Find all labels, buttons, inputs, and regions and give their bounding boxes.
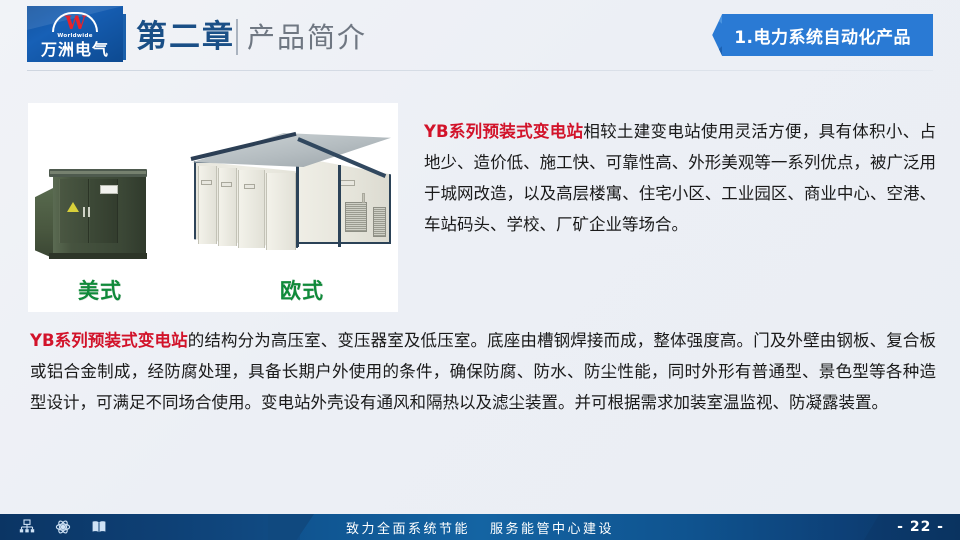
footer-slogan: 致力全面系统节能 服务能管中心建设 xyxy=(0,514,960,540)
page-number: - 22 - xyxy=(897,514,944,540)
american-base xyxy=(49,253,147,259)
american-side-panel xyxy=(35,187,55,259)
section-badge[interactable]: 1.电力系统自动化产品 xyxy=(712,14,933,56)
european-vent-grille xyxy=(345,202,367,232)
chapter-divider xyxy=(236,19,238,55)
badge-notch-bottom xyxy=(711,46,722,56)
american-door-handle xyxy=(83,207,85,217)
american-nameplate xyxy=(100,185,118,194)
european-roof xyxy=(188,129,393,169)
detail-highlight: YB系列预装式变电站 xyxy=(30,331,188,350)
chapter-accent-bar xyxy=(123,14,126,60)
european-corner-post xyxy=(338,165,341,247)
badge-notch-top xyxy=(711,14,722,24)
european-door xyxy=(218,168,237,246)
chapter-title: 产品简介 xyxy=(247,18,367,58)
european-corner-post xyxy=(296,157,299,247)
european-handle xyxy=(362,193,365,203)
european-door xyxy=(238,170,265,248)
warning-triangle-icon xyxy=(67,202,79,212)
intro-paragraph: YB系列预装式变电站相较土建变电站使用灵活方便，具有体积小、占地少、造价低、施工… xyxy=(424,116,936,240)
european-nameplate xyxy=(244,184,255,189)
logo-worldwide-text: Worldwide xyxy=(27,33,123,39)
section-badge-label: 1.电力系统自动化产品 xyxy=(734,23,911,48)
american-roof xyxy=(49,169,147,177)
american-substation-illustration xyxy=(35,169,147,259)
european-door xyxy=(266,173,296,250)
european-vent-grille xyxy=(373,207,386,237)
european-substation-illustration xyxy=(188,129,393,269)
substation-photo: 美式 欧式 xyxy=(28,103,398,312)
caption-american: 美式 xyxy=(78,275,122,305)
european-nameplate xyxy=(201,180,212,185)
slide: W Worldwide 万洲电气 第二章 产品简介 1.电力系统自动化产品 xyxy=(0,0,960,540)
detail-paragraph: YB系列预装式变电站的结构分为高压室、变压器室及低压室。底座由槽钢焊接而成，整体… xyxy=(30,325,936,418)
american-door-handle xyxy=(88,207,90,217)
european-door xyxy=(198,166,217,244)
logo-letter: W xyxy=(50,13,100,33)
european-nameplate xyxy=(340,180,355,186)
slide-footer: 致力全面系统节能 服务能管中心建设 - 22 - xyxy=(0,514,960,540)
european-nameplate xyxy=(221,182,232,187)
company-logo: W Worldwide 万洲电气 xyxy=(27,6,123,62)
slide-header: W Worldwide 万洲电气 第二章 产品简介 1.电力系统自动化产品 xyxy=(0,0,960,74)
chapter-number: 第二章 xyxy=(136,16,235,58)
logo-w-mark: W xyxy=(50,10,100,34)
section-badge-wrap: 1.电力系统自动化产品 xyxy=(712,14,933,56)
caption-european: 欧式 xyxy=(280,275,324,305)
header-rule xyxy=(27,70,933,71)
logo-company-name: 万洲电气 xyxy=(27,40,123,60)
intro-highlight: YB系列预装式变电站 xyxy=(424,122,583,141)
